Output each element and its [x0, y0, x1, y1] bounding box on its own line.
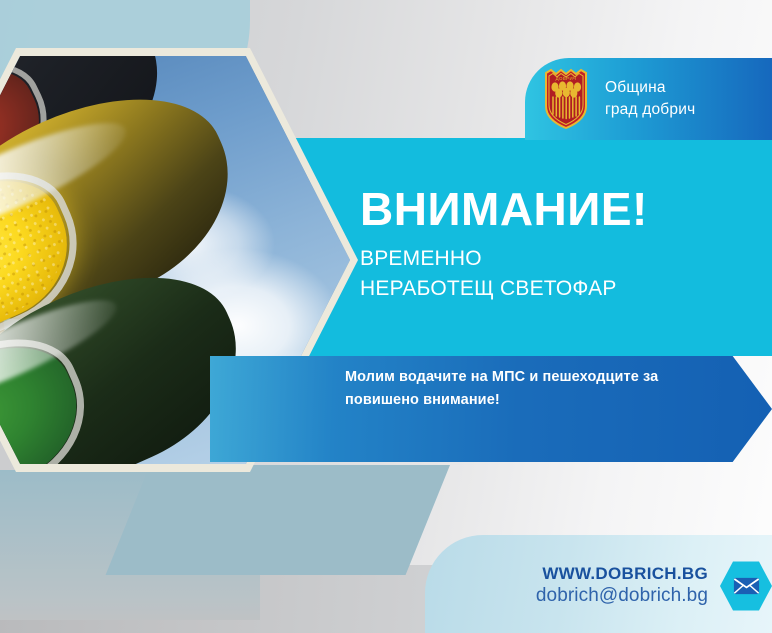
headline-block: ВНИМАНИЕ! ВРЕМЕННО НЕРАБОТЕЩ СВЕТОФАР — [360, 186, 760, 303]
poster-title: ВНИМАНИЕ! — [360, 186, 760, 234]
poster-subtitle-line-2: НЕРАБОТЕЩ СВЕТОФАР — [360, 274, 760, 304]
municipality-line-1: Община — [605, 77, 695, 99]
envelope-icon[interactable] — [720, 560, 772, 612]
decor-shape-slant — [106, 465, 450, 575]
email-link[interactable]: dobrich@dobrich.bg — [470, 584, 708, 608]
footer-contact-lines: WWW.DOBRICH.BG dobrich@dobrich.bg — [470, 564, 708, 609]
poster-canvas: ДОБРИЧ — [0, 0, 772, 633]
poster-subtitle: ВРЕМЕННО НЕРАБОТЕЩ СВЕТОФАР — [360, 244, 760, 304]
municipality-line-2: град добрич — [605, 99, 695, 121]
municipality-name: Община град добрич — [605, 77, 695, 121]
poster-subtitle-line-1: ВРЕМЕННО — [360, 244, 760, 274]
message-banner-text: Молим водачите на МПС и пешеходците за п… — [345, 366, 715, 413]
website-link[interactable]: WWW.DOBRICH.BG — [470, 564, 708, 584]
footer-contact-block: WWW.DOBRICH.BG dobrich@dobrich.bg — [470, 560, 772, 612]
municipality-logo-bar: ДОБРИЧ — [525, 58, 772, 140]
svg-text:ДОБРИЧ: ДОБРИЧ — [556, 76, 577, 81]
dobrich-coat-of-arms-icon: ДОБРИЧ — [543, 68, 589, 130]
